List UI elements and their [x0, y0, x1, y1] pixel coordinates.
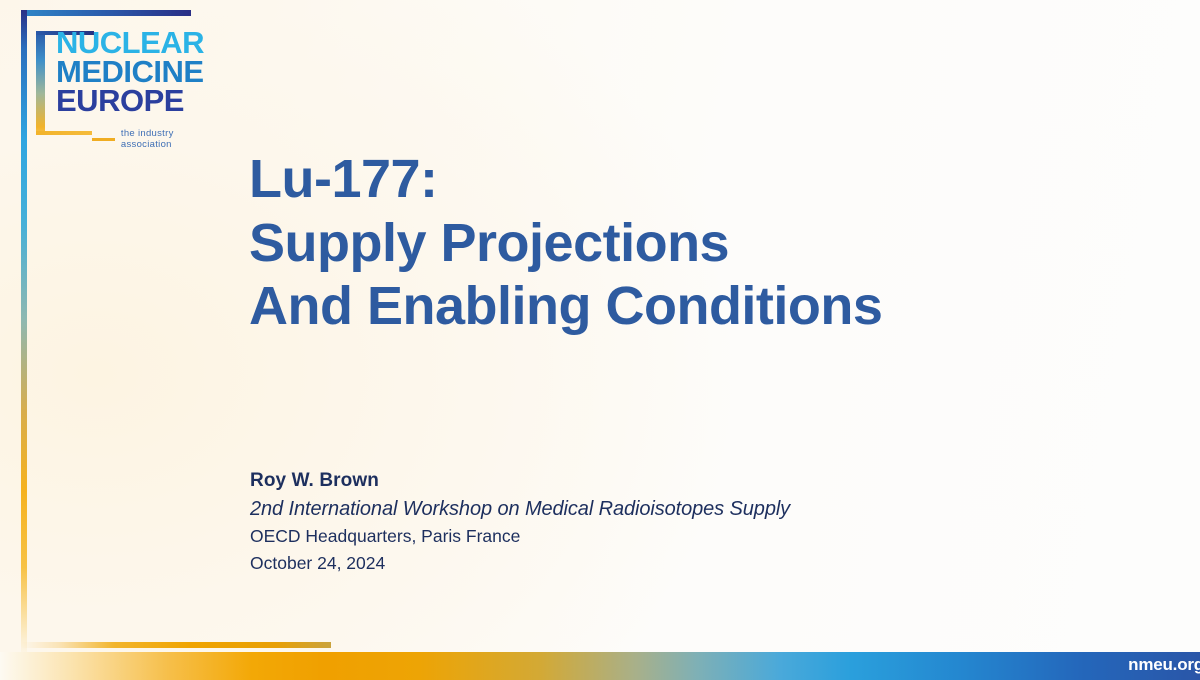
logo-bracket-vertical-icon [36, 31, 45, 135]
slide-title: Lu-177: Supply Projections And Enabling … [249, 148, 882, 339]
logo-wordmark: NUCLEAR MEDICINE EUROPE [56, 28, 204, 115]
event-venue: OECD Headquarters, Paris France [250, 523, 790, 549]
logo-line-europe: EUROPE [56, 86, 204, 115]
slide-title-line-3: And Enabling Conditions [249, 275, 882, 339]
footer-gradient-bar: nmeu.org [0, 652, 1200, 680]
footer-website-url: nmeu.org [1128, 655, 1200, 675]
slide-title-line-1: Lu-177: [249, 148, 882, 212]
event-name: 2nd International Workshop on Medical Ra… [250, 495, 790, 523]
logo-line-nuclear: NUCLEAR [56, 28, 204, 57]
event-date: October 24, 2024 [250, 550, 790, 576]
logo-tagline-row: the industry association [92, 128, 208, 150]
logo-tagline-rule-icon [92, 138, 115, 141]
frame-left-accent-bar [21, 10, 27, 658]
presenter-details: Roy W. Brown 2nd International Workshop … [250, 468, 790, 576]
logo-bracket-bottom-icon [36, 131, 92, 135]
presenter-name: Roy W. Brown [250, 468, 790, 495]
nuclear-medicine-europe-logo: NUCLEAR MEDICINE EUROPE the industry ass… [36, 28, 208, 140]
slide-title-line-2: Supply Projections [249, 212, 882, 276]
logo-line-medicine: MEDICINE [56, 57, 204, 86]
frame-top-accent-bar [21, 10, 191, 16]
frame-bottom-accent-bar [21, 642, 331, 648]
logo-tagline-text: the industry association [121, 128, 208, 150]
presentation-slide: NUCLEAR MEDICINE EUROPE the industry ass… [0, 0, 1200, 680]
